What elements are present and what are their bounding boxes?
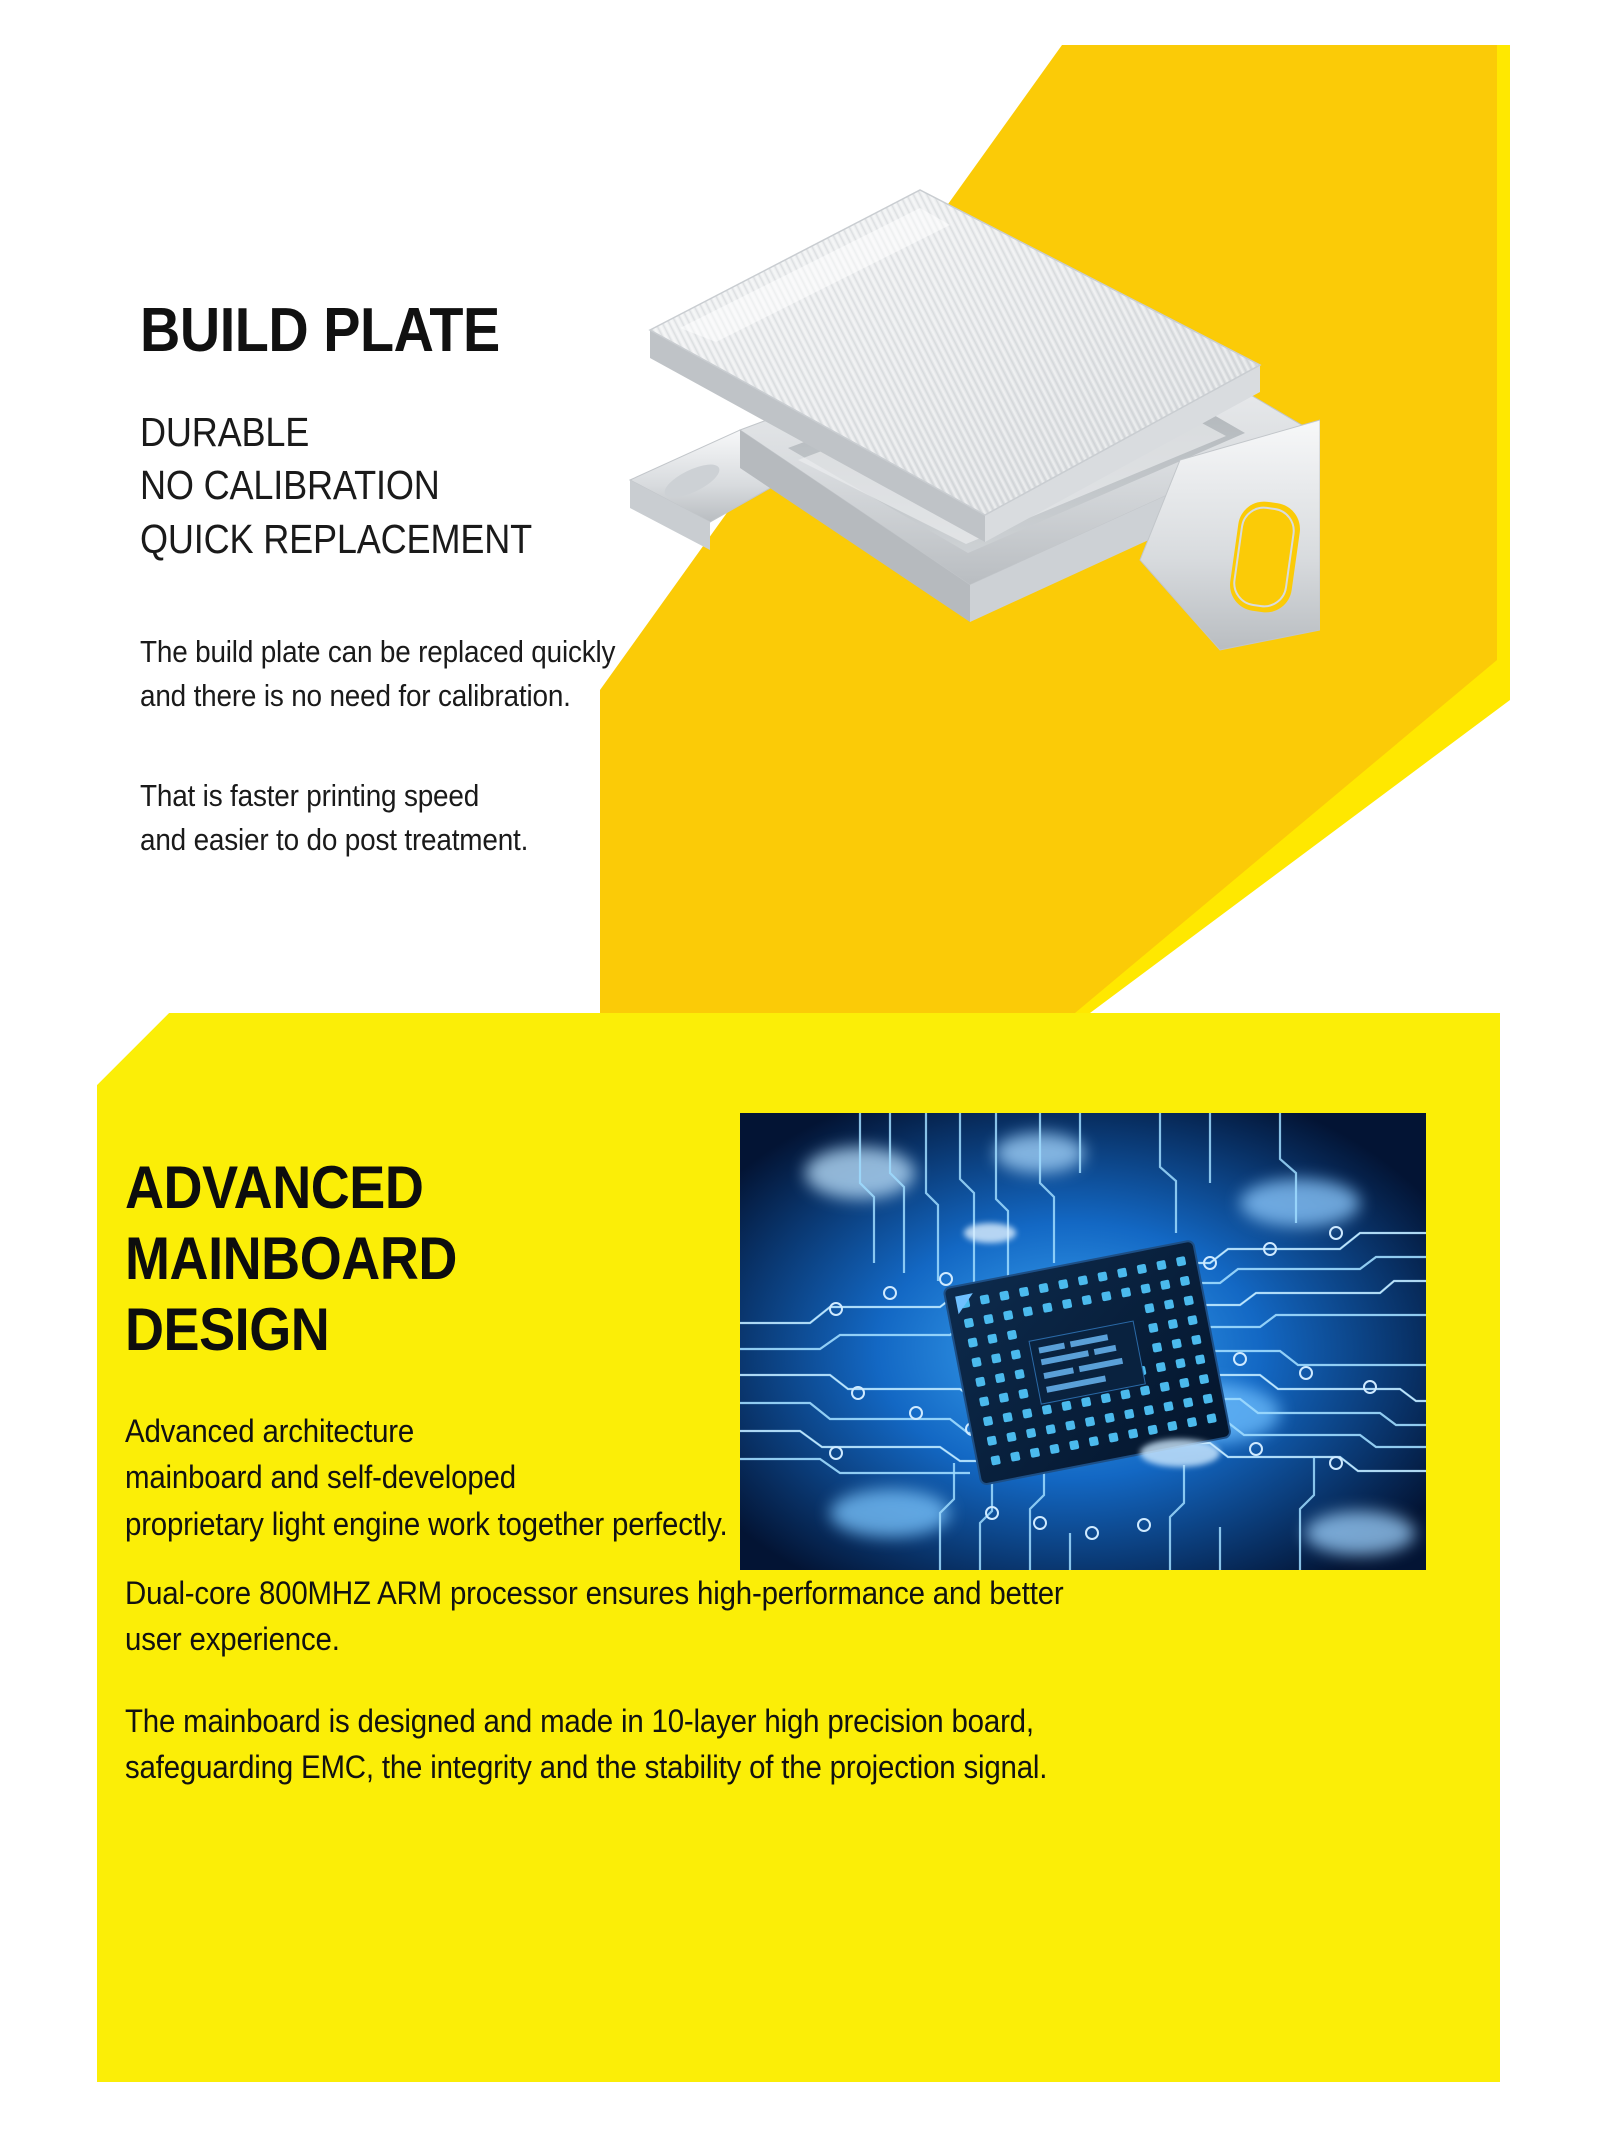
mainboard-section-panel: ADVANCED MAINBOARD DESIGN Advanced archi… [97,1013,1500,2082]
paragraph-line: That is faster printing speed [140,774,716,818]
feature-item-no-calibration: NO CALIBRATION [140,459,703,512]
feature-item-quick-replacement: QUICK REPLACEMENT [140,513,703,566]
paragraph-line: and there is no need for calibration. [140,674,716,718]
feature-item-durable: DURABLE [140,406,703,459]
build-plate-paragraph-2: That is faster printing speed and easier… [140,774,716,862]
heading-line: DESIGN [125,1295,457,1366]
paragraph-line: safeguarding EMC, the integrity and the … [125,1744,1047,1790]
paragraph-line: The mainboard is designed and made in 10… [125,1698,1047,1744]
mainboard-heading: ADVANCED MAINBOARD DESIGN [125,1153,457,1365]
mainboard-paragraph-2: Dual-core 800MHZ ARM processor ensures h… [125,1570,1064,1663]
product-feature-page: BUILD PLATE DURABLE NO CALIBRATION QUICK… [0,0,1600,2131]
paragraph-line: The build plate can be replaced quickly [140,630,716,674]
build-plate-paragraph-1: The build plate can be replaced quickly … [140,630,716,718]
paragraph-line: Dual-core 800MHZ ARM processor ensures h… [125,1570,1064,1616]
page-title: BUILD PLATE [140,300,716,362]
paragraph-line: proprietary light engine work together p… [125,1501,727,1547]
paragraph-line: user experience. [125,1616,1064,1662]
heading-line: MAINBOARD [125,1224,457,1295]
paragraph-line: mainboard and self-developed [125,1454,727,1500]
paragraph-line: Advanced architecture [125,1408,727,1454]
mainboard-paragraph-3: The mainboard is designed and made in 10… [125,1698,1047,1791]
heading-line: ADVANCED [125,1153,457,1224]
mainboard-paragraph-1: Advanced architecture mainboard and self… [125,1408,727,1547]
paragraph-line: and easier to do post treatment. [140,818,716,862]
build-plate-text-block: BUILD PLATE DURABLE NO CALIBRATION QUICK… [140,300,780,862]
circuit-board-photo [740,1113,1426,1570]
feature-list: DURABLE NO CALIBRATION QUICK REPLACEMENT [140,406,703,566]
